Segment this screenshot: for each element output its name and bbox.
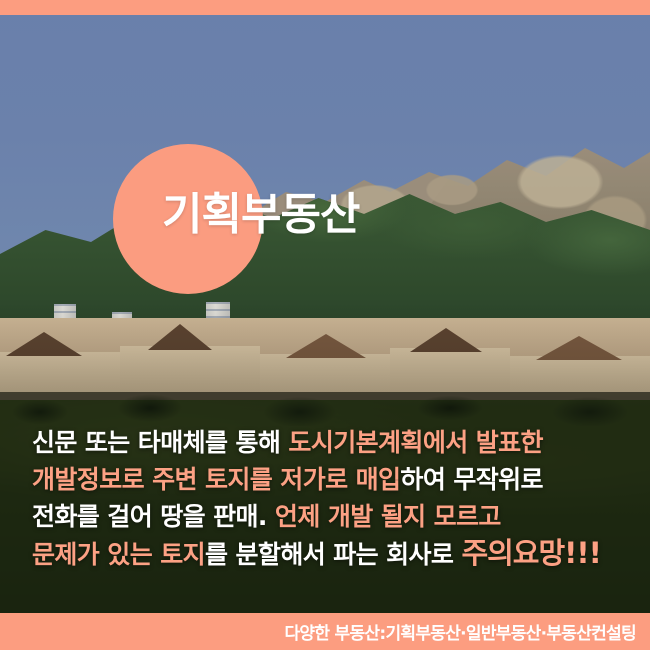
copy-segment-highlight: 도시기본계획에서 발표한 [288,428,543,457]
footer-bar: 다양한 부동산:기획부동산·일반부동산·부동산컨설팅 [0,613,650,650]
footer-text: 다양한 부동산:기획부동산·일반부동산·부동산컨설팅 [284,619,650,644]
scrim-gradient [0,300,650,392]
copy-segment-highlight: 언제 개발 될지 모르고 [275,502,501,531]
copy-segment-plain: 하여 무작위로 [400,465,543,494]
copy-line: 개발정보로 주변 토지를 저가로 매입하여 무작위로 [32,461,622,498]
copy-segment-highlight: 개발정보로 주변 토지를 저가로 매입 [32,465,400,494]
body-copy: 신문 또는 타매체를 통해 도시기본계획에서 발표한 개발정보로 주변 토지를 … [32,424,622,573]
copy-segment-plain: 를 분할해서 파는 회사로 [205,540,461,569]
copy-line: 문제가 있는 토지를 분할해서 파는 회사로 주의요망!!! [32,535,622,573]
top-accent-bar [0,0,650,15]
copy-line: 신문 또는 타매체를 통해 도시기본계획에서 발표한 [32,424,622,461]
copy-segment-plain: 신문 또는 타매체를 통해 [32,428,288,457]
copy-segment-plain: 전화를 걸어 땅을 판매. [32,502,275,531]
copy-segment-highlight: 문제가 있는 토지 [32,540,205,569]
poster-title: 기획부동산 [162,193,359,237]
poster-card: 기획부동산 신문 또는 타매체를 통해 도시기본계획에서 발표한 개발정보로 주… [0,0,650,650]
copy-segment-shout: 주의요망!!! [461,536,600,570]
copy-line: 전화를 걸어 땅을 판매. 언제 개발 될지 모르고 [32,498,622,535]
